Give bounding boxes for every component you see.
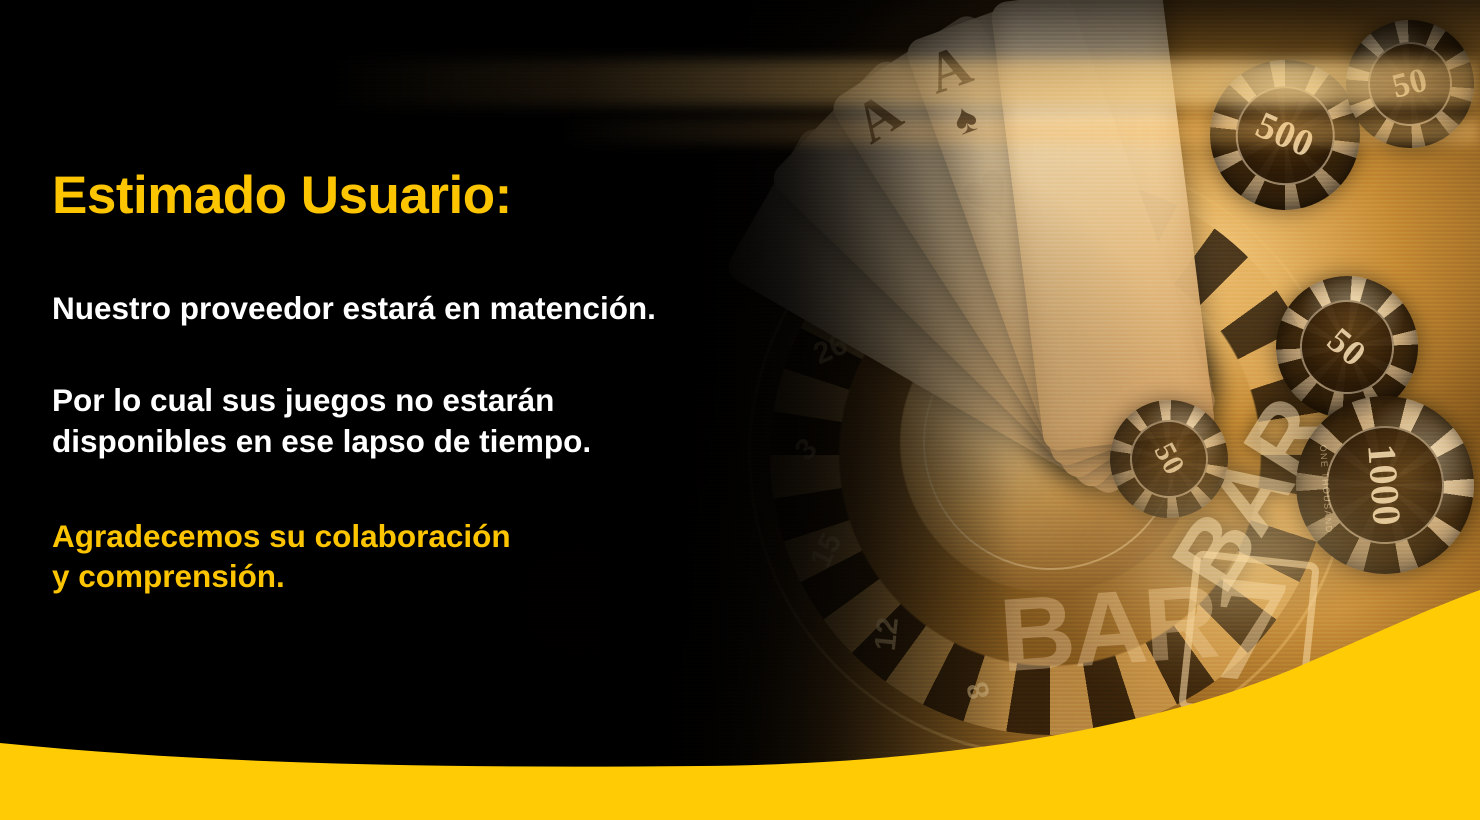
- notice-paragraph-1: Nuestro proveedor estará en matención.: [52, 288, 872, 328]
- notice-line: Por lo cual sus juegos no estarán: [52, 380, 872, 420]
- swoosh-shape: [0, 590, 1480, 820]
- yellow-bottom-swoosh: [0, 590, 1480, 820]
- notice-line: y comprensión.: [52, 556, 872, 596]
- notice-line: Agradecemos su colaboración: [52, 516, 872, 556]
- maintenance-notice-banner: 15 32 0 26 3 15 12 8 A ♥ A ♠: [0, 0, 1480, 820]
- notice-paragraph-2: Por lo cual sus juegos no estarán dispon…: [52, 380, 872, 461]
- notice-copy: Estimado Usuario: Nuestro proveedor esta…: [52, 168, 872, 597]
- page-title: Estimado Usuario:: [52, 168, 872, 224]
- swoosh-path: [0, 590, 1480, 820]
- notice-paragraph-3: Agradecemos su colaboración y comprensió…: [52, 516, 872, 597]
- notice-line: disponibles en ese lapso de tiempo.: [52, 421, 872, 461]
- notice-line: Nuestro proveedor estará en matención.: [52, 288, 872, 328]
